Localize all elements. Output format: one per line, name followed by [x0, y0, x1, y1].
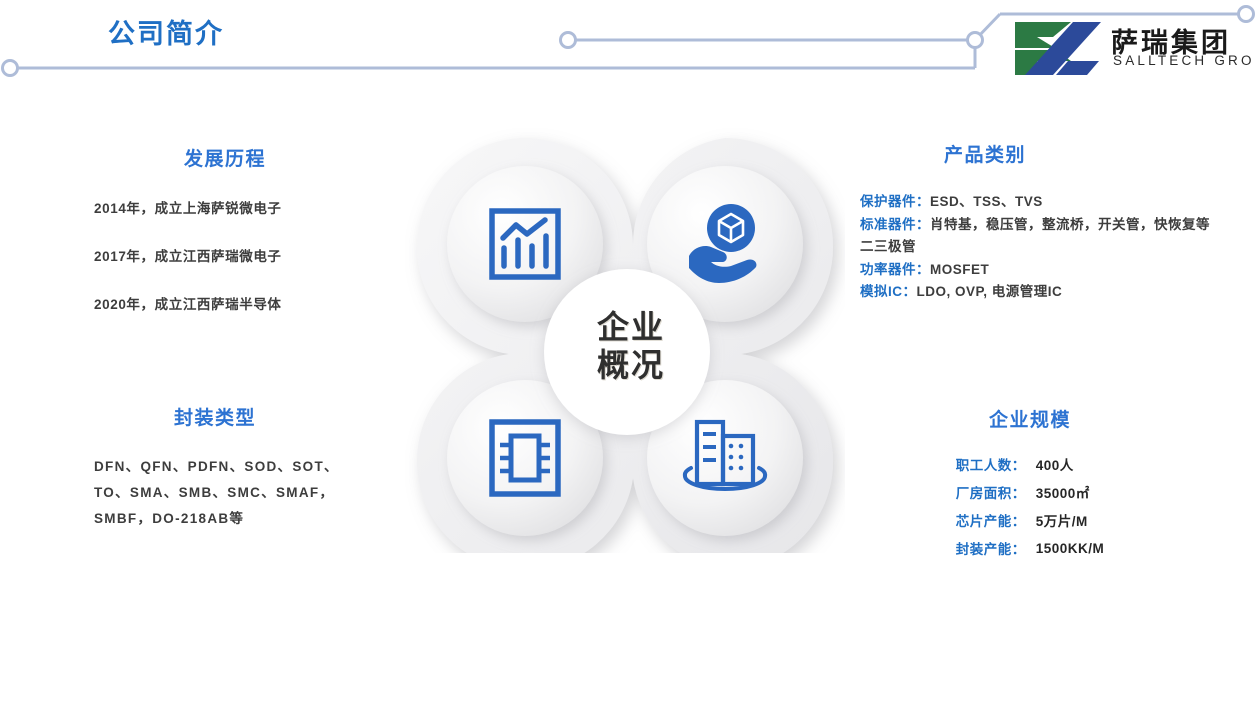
- package-heading: 封装类型: [60, 403, 370, 430]
- history-item: 2017年，成立江西萨瑞微电子: [60, 245, 390, 265]
- page-header: 公司简介 萨瑞集团 SALLTECH GROUP: [0, 0, 1255, 95]
- product-row: 保护器件：ESD、TSS、TVS: [860, 191, 1210, 214]
- product-row: 功率器件：MOSFET: [860, 259, 1210, 282]
- scale-key: 职工人数：: [956, 454, 1026, 482]
- product-value: ESD、TSS、TVS: [930, 194, 1043, 209]
- history-item: 2020年，成立江西萨瑞半导体: [60, 293, 390, 313]
- company-logo: 萨瑞集团 SALLTECH GROUP: [1013, 20, 1248, 78]
- products-heading: 产品类别: [860, 140, 1110, 167]
- product-row: 标准器件：肖特基，稳压管，整流桥，开关管，快恢复等二三极管: [860, 214, 1210, 259]
- product-label: 标准器件：: [860, 217, 930, 232]
- products-list: 保护器件：ESD、TSS、TVS 标准器件：肖特基，稳压管，整流桥，开关管，快恢…: [860, 191, 1210, 304]
- history-heading: 发展历程: [60, 144, 390, 171]
- scale-block: 企业规模 职工人数： 400人 厂房面积： 35000㎡ 芯片产能： 5万片/M…: [880, 405, 1180, 566]
- center-diagram: 企业 概况: [405, 128, 845, 553]
- scale-value: 5万片/M: [1026, 510, 1105, 538]
- logo-name-en: SALLTECH GROUP: [1113, 53, 1255, 68]
- table-row: 厂房面积： 35000㎡: [956, 482, 1105, 510]
- product-row: 模拟IC：LDO, OVP, 电源管理IC: [860, 281, 1210, 304]
- scale-table: 职工人数： 400人 厂房面积： 35000㎡ 芯片产能： 5万片/M 封装产能…: [956, 454, 1105, 566]
- package-block: 封装类型 DFN、QFN、PDFN、SOD、SOT、TO、SMA、SMB、SMC…: [60, 403, 370, 532]
- center-circle[interactable]: [544, 269, 710, 435]
- center-diagram-svg: [405, 128, 845, 553]
- scale-value: 400人: [1026, 454, 1105, 482]
- table-row: 芯片产能： 5万片/M: [956, 510, 1105, 538]
- scale-value: 1500KK/M: [1026, 538, 1105, 566]
- history-block: 发展历程 2014年，成立上海萨锐微电子 2017年，成立江西萨瑞微电子 202…: [60, 144, 390, 313]
- product-value: MOSFET: [930, 262, 989, 277]
- scale-value: 35000㎡: [1026, 482, 1105, 510]
- product-label: 模拟IC：: [860, 284, 917, 299]
- page-title: 公司简介: [108, 12, 224, 51]
- product-label: 功率器件：: [860, 262, 930, 277]
- scale-heading: 企业规模: [880, 405, 1180, 432]
- history-item: 2014年，成立上海萨锐微电子: [60, 197, 390, 217]
- product-value: LDO, OVP, 电源管理IC: [917, 284, 1063, 299]
- logo-mark-icon: [1013, 20, 1105, 78]
- package-types-text: DFN、QFN、PDFN、SOD、SOT、TO、SMA、SMB、SMC、SMAF…: [60, 454, 370, 532]
- products-block: 产品类别 保护器件：ESD、TSS、TVS 标准器件：肖特基，稳压管，整流桥，开…: [860, 140, 1210, 304]
- scale-key: 厂房面积：: [956, 482, 1026, 510]
- product-label: 保护器件：: [860, 194, 930, 209]
- table-row: 封装产能： 1500KK/M: [956, 538, 1105, 566]
- scale-key: 芯片产能：: [956, 510, 1026, 538]
- table-row: 职工人数： 400人: [956, 454, 1105, 482]
- scale-key: 封装产能：: [956, 538, 1026, 566]
